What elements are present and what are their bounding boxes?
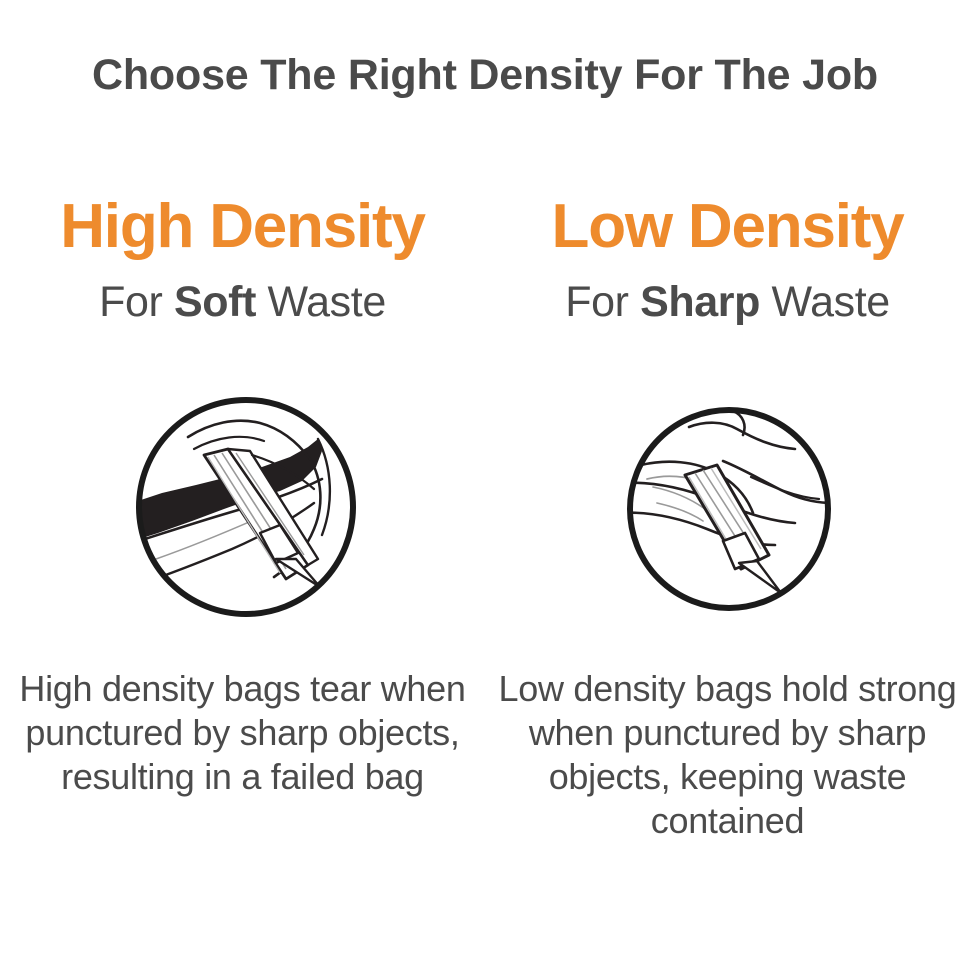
high-density-sub-emphasis: Soft — [174, 278, 256, 326]
page-title: Choose The Right Density For The Job — [0, 52, 970, 99]
high-density-sub-prefix: For — [99, 278, 174, 326]
high-density-illustration-wrap — [0, 393, 488, 625]
comparison-columns: High Density For Soft Waste — [0, 192, 970, 843]
density-comparison-infographic: Choose The Right Density For The Job Hig… — [0, 0, 970, 971]
torn-bag-illustration-icon — [132, 393, 360, 621]
low-density-heading: Low Density — [552, 192, 904, 261]
low-density-caption: Low density bags hold strong when punctu… — [493, 667, 963, 843]
high-density-sub-suffix: Waste — [256, 278, 386, 326]
low-density-subheading: For Sharp Waste — [565, 279, 890, 326]
intact-bag-illustration-icon — [623, 403, 835, 615]
high-density-heading: High Density — [60, 192, 425, 261]
column-high-density: High Density For Soft Waste — [0, 192, 485, 843]
low-density-sub-emphasis: Sharp — [640, 278, 760, 326]
low-density-illustration-wrap — [484, 403, 970, 635]
low-density-sub-prefix: For — [565, 278, 640, 326]
low-density-sub-suffix: Waste — [760, 278, 890, 326]
high-density-subheading: For Soft Waste — [99, 279, 386, 326]
column-low-density: Low Density For Sharp Waste — [485, 192, 970, 843]
high-density-caption: High density bags tear when punctured by… — [8, 667, 478, 799]
